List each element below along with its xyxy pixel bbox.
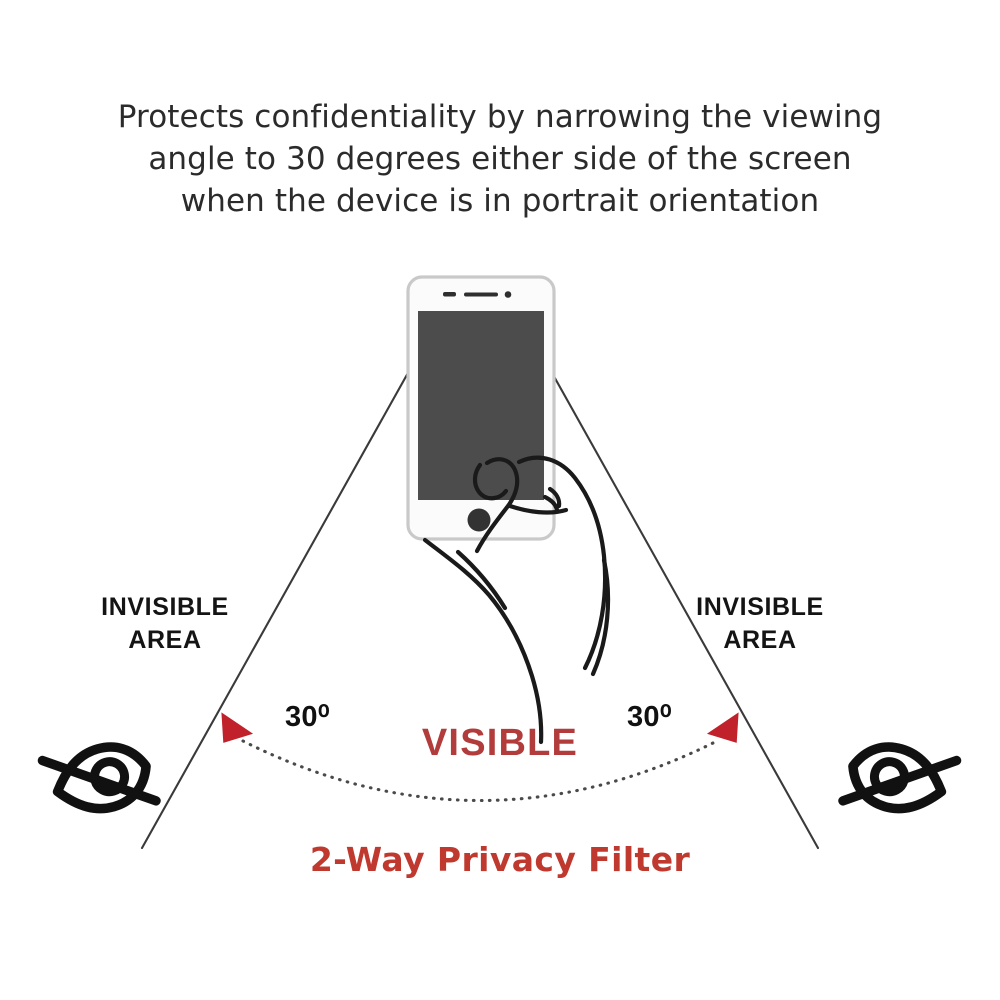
device-front-camera bbox=[505, 291, 512, 298]
smartphone-illustration bbox=[408, 277, 554, 539]
invisible-right-line-2: AREA bbox=[635, 624, 885, 657]
headline: Protects confidentiality by narrowing th… bbox=[0, 96, 1000, 222]
cone-line-left bbox=[142, 330, 432, 848]
device-sensor bbox=[443, 292, 456, 297]
invisible-left-line-2: AREA bbox=[40, 624, 290, 657]
visible-area-label: VISIBLE bbox=[0, 722, 1000, 765]
hand-illustration bbox=[425, 458, 608, 742]
infographic-canvas: Protects confidentiality by narrowing th… bbox=[0, 0, 1000, 1000]
device-home-button bbox=[468, 509, 491, 532]
invisible-area-label-right: INVISIBLE AREA bbox=[635, 591, 885, 657]
headline-line-3: when the device is in portrait orientati… bbox=[0, 180, 1000, 222]
device-earpiece bbox=[464, 293, 498, 297]
headline-line-2: angle to 30 degrees either side of the s… bbox=[0, 138, 1000, 180]
headline-line-1: Protects confidentiality by narrowing th… bbox=[0, 96, 1000, 138]
invisible-right-line-1: INVISIBLE bbox=[635, 591, 885, 624]
invisible-left-line-1: INVISIBLE bbox=[40, 591, 290, 624]
cone-line-right bbox=[528, 330, 818, 848]
product-caption: 2-Way Privacy Filter bbox=[0, 840, 1000, 879]
device-body bbox=[408, 277, 554, 539]
device-screen bbox=[418, 311, 544, 500]
invisible-area-label-left: INVISIBLE AREA bbox=[40, 591, 290, 657]
